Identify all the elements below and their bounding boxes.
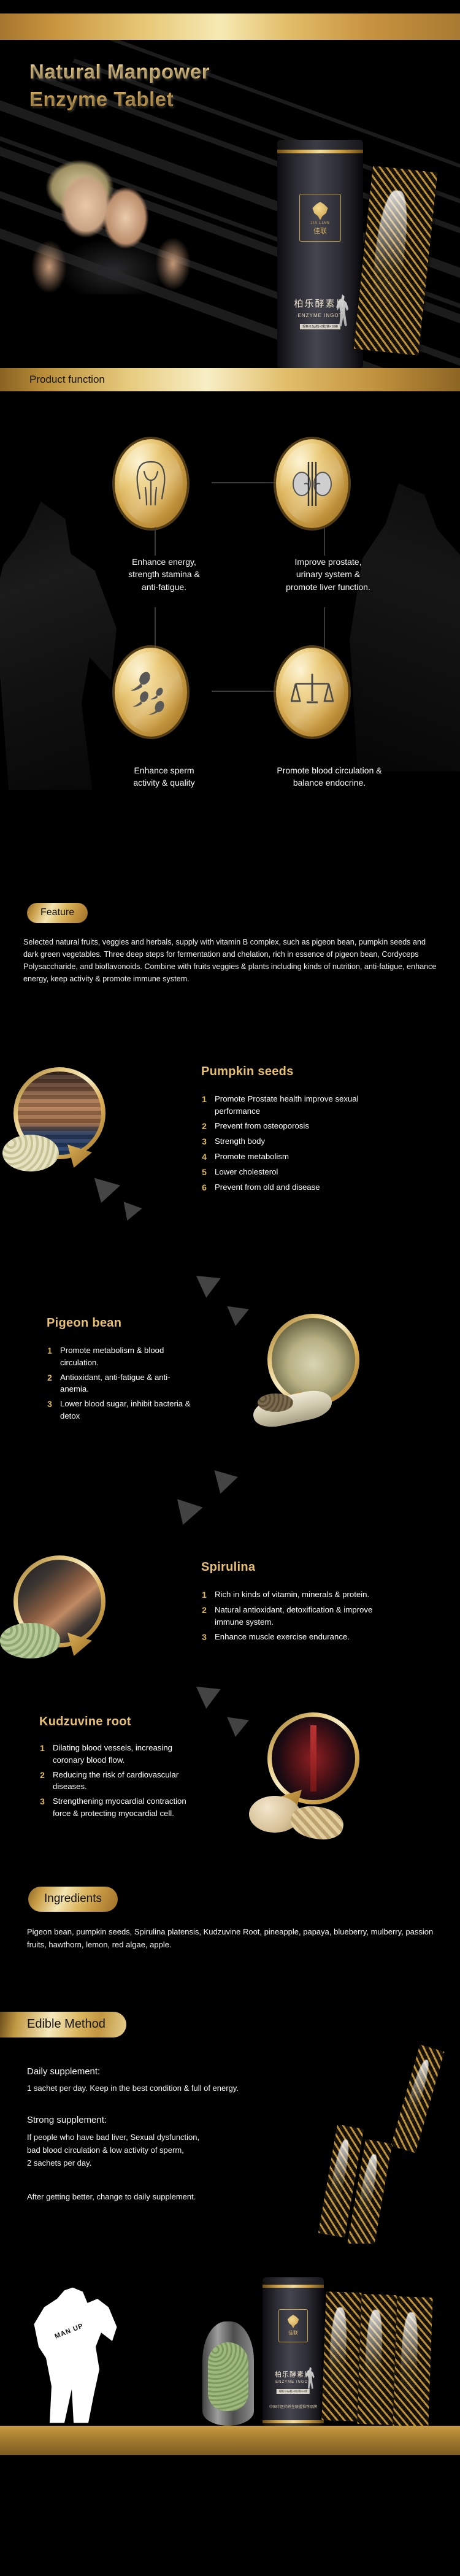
- ingredient-title-kudzuvine-root: Kudzuvine root: [39, 1715, 131, 1729]
- list-item: 2Antioxidant, anti-fatigue & anti-anemia…: [45, 1371, 199, 1396]
- product-infographic-page: Natural Manpower Enzyme Tablet JIA LIAN …: [0, 0, 460, 2576]
- ingredient-benefit-list-kudzuvine-root: 1Dilating blood vessels, increasing coro…: [38, 1742, 202, 1822]
- ingredient-block-spirulina: Spirulina 1Rich in kinds of vitamin, min…: [0, 1477, 460, 1685]
- ingredients-pill-label: Ingredients: [28, 1887, 118, 1912]
- product-tagline-cn: 中国中医药养生联盟推荐品牌: [263, 2404, 324, 2409]
- list-item: 5Lower cholesterol: [200, 1166, 384, 1179]
- list-number: 3: [200, 1135, 209, 1148]
- decor-triangle: [194, 1276, 220, 1299]
- flower-logo-icon: [311, 202, 329, 220]
- list-number: 3: [45, 1398, 54, 1422]
- hero-section: Natural Manpower Enzyme Tablet JIA LIAN …: [0, 0, 460, 368]
- list-number: 2: [200, 1120, 209, 1133]
- tube-gold-band-top: [263, 2285, 324, 2288]
- function-icon-kidney: [276, 439, 348, 528]
- list-item: 1Rich in kinds of vitamin, minerals & pr…: [200, 1589, 384, 1601]
- ingredients-text: Pigeon bean, pumpkin seeds, Spirulina pl…: [27, 1925, 437, 1951]
- list-number: 1: [38, 1742, 47, 1766]
- product-sachet-footer-3: [393, 2296, 432, 2428]
- couple-photo: [12, 159, 215, 294]
- beans-on-spoon: [258, 1393, 293, 1412]
- pumpkin-seeds-prop: [2, 1135, 59, 1171]
- list-item: 3Strength body: [200, 1135, 384, 1148]
- tube-lid: [263, 2277, 324, 2285]
- edible-method-section: Edible Method Daily supplement: 1 sachet…: [0, 1998, 460, 2244]
- decor-triangle: [224, 1306, 249, 1328]
- list-item: 2Prevent from osteoporosis: [200, 1120, 384, 1133]
- tube-lid: [277, 140, 363, 150]
- green-tablets: [208, 2342, 248, 2411]
- list-text: Prevent from osteoporosis: [215, 1120, 384, 1133]
- strong-supplement-heading: Strong supplement:: [27, 2113, 460, 2128]
- product-function-section: Enhance energy, strength stamina & anti-…: [0, 391, 460, 894]
- ingredient-block-kudzuvine-root: Kudzuvine root 1Dilating blood vessels, …: [0, 1685, 460, 1876]
- list-text: Natural antioxidant, detoxification & im…: [215, 1604, 384, 1628]
- function-caption-3: Enhance sperm activity & quality: [98, 764, 230, 789]
- product-name-cn: 柏乐酵素片: [277, 297, 363, 310]
- decor-triangle: [88, 1178, 120, 1207]
- ingredient-benefit-list-spirulina: 1Rich in kinds of vitamin, minerals & pr…: [200, 1589, 384, 1646]
- connector-line-vert-2: [155, 607, 156, 649]
- list-text: Promote metabolism & blood circulation.: [60, 1344, 199, 1369]
- connector-line-vert-1: [155, 527, 156, 556]
- list-number: 4: [200, 1151, 209, 1163]
- list-text: Enhance muscle exercise endurance.: [215, 1631, 384, 1644]
- feature-section: Feature Selected natural fruits, veggies…: [0, 894, 460, 1054]
- list-text: Dilating blood vessels, increasing coron…: [53, 1742, 202, 1766]
- list-item: 1Promote metabolism & blood circulation.: [45, 1344, 199, 1369]
- daily-supplement-text: 1 sachet per day. Keep in the best condi…: [27, 2082, 460, 2095]
- tube-gold-band: [277, 150, 363, 153]
- connector-line-vert-3: [324, 527, 325, 556]
- function-icon-balance-scale: [276, 648, 348, 737]
- daily-supplement-heading: Daily supplement:: [27, 2064, 460, 2079]
- product-function-banner: Product function: [0, 368, 460, 391]
- connector-line-vert-4: [324, 607, 325, 649]
- brand-logo-box: 佳联: [278, 2309, 308, 2342]
- function-caption-2: Improve prostate, urinary system & promo…: [251, 556, 405, 593]
- list-item: 1Dilating blood vessels, increasing coro…: [38, 1742, 202, 1766]
- manup-mascot-silhouette: [29, 2285, 121, 2426]
- page-title: Natural Manpower Enzyme Tablet: [29, 58, 210, 113]
- ingredient-title-pumpkin-seeds: Pumpkin seeds: [201, 1065, 294, 1079]
- list-text: Strengthening myocardial contraction for…: [53, 1795, 202, 1820]
- brand-latin-name: JIA LIAN: [310, 221, 329, 226]
- list-item: 4Promote metabolism: [200, 1151, 384, 1163]
- function-caption-4: Promote blood circulation & balance endo…: [234, 764, 424, 789]
- ingredient-title-pigeon-bean: Pigeon bean: [47, 1316, 121, 1330]
- product-name-en: ENZYME INGOT: [263, 2380, 324, 2384]
- edible-method-note: After getting better, change to daily su…: [27, 2190, 460, 2203]
- pigeon-bean-photo: [272, 1318, 355, 1401]
- edible-method-pill-label: Edible Method: [0, 2012, 126, 2037]
- ingredient-block-pumpkin-seeds: Pumpkin seeds 1Promote Prostate health i…: [0, 1054, 460, 1275]
- list-text: Lower blood sugar, inhibit bacteria & de…: [60, 1398, 199, 1422]
- feature-paragraph: Selected natural fruits, veggies and her…: [23, 937, 438, 986]
- decor-triangle: [224, 1717, 249, 1739]
- ghost-suit-man-right: [347, 483, 460, 772]
- ingredient-block-pigeon-bean: Pigeon bean 1Promote metabolism & blood …: [0, 1275, 460, 1477]
- circulatory-system-photo: [272, 1717, 355, 1800]
- list-text: Antioxidant, anti-fatigue & anti-anemia.: [60, 1371, 199, 1396]
- list-number: 1: [45, 1344, 54, 1369]
- list-number: 2: [38, 1769, 47, 1793]
- ingredient-benefit-list-pumpkin-seeds: 1Promote Prostate health improve sexual …: [200, 1093, 384, 1197]
- list-item: 3Enhance muscle exercise endurance.: [200, 1631, 384, 1644]
- function-icon-torso: [115, 439, 187, 528]
- brand-chinese-name: 佳联: [313, 228, 327, 235]
- ingredient-benefit-list-pigeon-bean: 1Promote metabolism & blood circulation.…: [45, 1344, 199, 1425]
- list-number: 5: [200, 1166, 209, 1179]
- list-text: Promote metabolism: [215, 1151, 384, 1163]
- list-text: Lower cholesterol: [215, 1166, 384, 1179]
- list-item: 6Prevent from old and disease: [200, 1181, 384, 1194]
- ghost-bodybuilder-left: [0, 502, 117, 790]
- function-caption-1: Enhance energy, strength stamina & anti-…: [98, 556, 230, 593]
- list-text: Promote Prostate health improve sexual p…: [215, 1093, 384, 1117]
- list-number: 2: [200, 1604, 209, 1628]
- list-text: Reducing the risk of cardiovascular dise…: [53, 1769, 202, 1793]
- product-spec: 规格 0.5g/粒×2粒/袋×10袋: [277, 2389, 310, 2394]
- list-item: 2Natural antioxidant, detoxification & i…: [200, 1604, 384, 1628]
- connector-line-row2: [212, 691, 276, 692]
- product-name-cn: 柏乐酵素片: [263, 2369, 324, 2379]
- list-number: 3: [38, 1795, 47, 1820]
- list-number: 6: [200, 1181, 209, 1194]
- decor-triangle: [118, 1202, 142, 1224]
- brand-logo-box: JIA LIAN 佳联: [299, 194, 341, 242]
- function-icon-sperm: [115, 648, 187, 737]
- product-tube-hero: JIA LIAN 佳联 柏乐酵素片 ENZYME INGOT 规格 0.5g/粒…: [277, 140, 363, 368]
- list-text: Prevent from old and disease: [215, 1181, 384, 1194]
- gold-ground-bar: [0, 2426, 460, 2455]
- ingredient-title-spirulina: Spirulina: [201, 1560, 255, 1574]
- kudzu-chips-prop: [288, 1803, 346, 1843]
- tube-gold-band-bottom: [263, 2420, 324, 2423]
- list-item: 1Promote Prostate health improve sexual …: [200, 1093, 384, 1117]
- product-name-en: ENZYME INGOT: [277, 313, 363, 318]
- feature-pill-label: Feature: [27, 903, 88, 923]
- product-function-banner-label: Product function: [29, 374, 105, 386]
- spirulina-tablets-prop: [0, 1623, 60, 1658]
- list-item: 3Lower blood sugar, inhibit bacteria & d…: [45, 1398, 199, 1422]
- list-item: 2Reducing the risk of cardiovascular dis…: [38, 1769, 202, 1793]
- list-number: 2: [45, 1371, 54, 1396]
- decor-triangle: [194, 1687, 220, 1710]
- tablet-jar: [202, 2321, 254, 2426]
- product-tube-footer: 佳联 柏乐酵素片 ENZYME INGOT 规格 0.5g/粒×2粒/袋×10袋…: [263, 2277, 324, 2426]
- list-text: Rich in kinds of vitamin, minerals & pro…: [215, 1589, 384, 1601]
- kudzuvine-photo-bubble: [267, 1712, 359, 1804]
- product-spec: 规格 0.5g/粒×2粒/袋×10袋: [300, 324, 340, 329]
- top-gold-strip: [0, 13, 460, 40]
- list-number: 3: [200, 1631, 209, 1644]
- ingredients-section: Ingredients Pigeon bean, pumpkin seeds, …: [0, 1876, 460, 1998]
- connector-line-row1: [212, 482, 276, 483]
- list-number: 1: [200, 1093, 209, 1117]
- decor-triangle: [170, 1499, 202, 1529]
- product-sachet-footer-1: [321, 2291, 361, 2421]
- footer-section: MAN UP 佳联 柏乐酵素片 ENZYME INGOT 规格 0.5g/粒×2…: [0, 2244, 460, 2455]
- list-text: Strength body: [215, 1135, 384, 1148]
- list-item: 3Strengthening myocardial contraction fo…: [38, 1795, 202, 1820]
- product-sachet-footer-2: [357, 2294, 397, 2425]
- list-number: 1: [200, 1589, 209, 1601]
- brand-chinese-name: 佳联: [288, 2331, 298, 2336]
- flower-logo-icon: [286, 2315, 300, 2328]
